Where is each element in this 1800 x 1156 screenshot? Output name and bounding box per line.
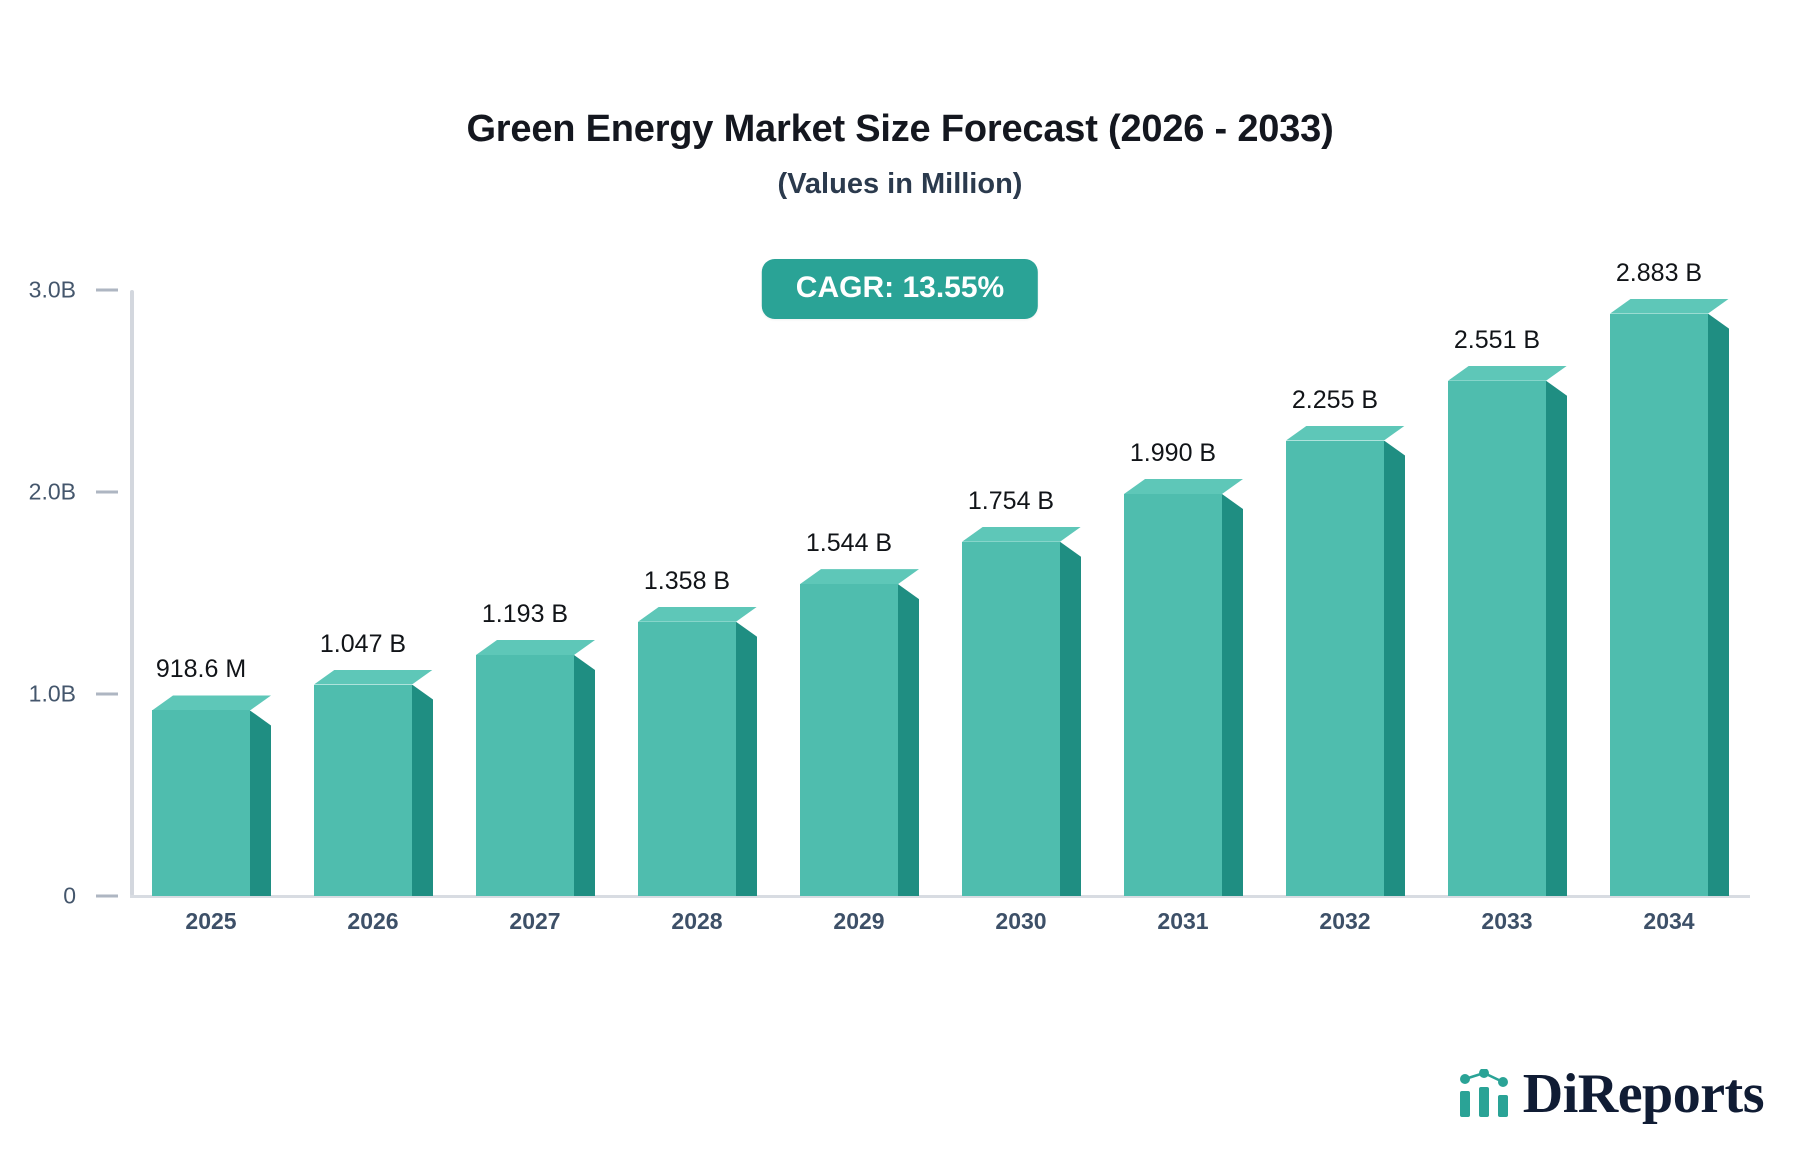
bar-2030[interactable]: 1.754 B xyxy=(962,542,1060,896)
bar-top-face xyxy=(476,640,595,655)
bar-2032[interactable]: 2.255 B xyxy=(1286,441,1384,897)
chart-container: Green Energy Market Size Forecast (2026 … xyxy=(0,0,1800,1156)
x-axis-label-2027: 2027 xyxy=(475,908,595,935)
plot-area: 01.0B2.0B3.0B 918.6 M1.047 B1.193 B1.358… xyxy=(130,285,1750,905)
bar-top-face xyxy=(1286,426,1405,441)
bar-body xyxy=(152,710,250,896)
bar-side-face xyxy=(1708,314,1729,896)
bar-body xyxy=(800,584,898,896)
bar-front-face xyxy=(314,685,412,896)
logo-text: DiReports xyxy=(1523,1066,1764,1122)
bar-front-face xyxy=(1610,314,1708,896)
bar-body xyxy=(638,622,736,896)
page-title: Green Energy Market Size Forecast (2026 … xyxy=(0,108,1800,151)
bar-body xyxy=(1124,494,1222,896)
bar-value-label: 2.551 B xyxy=(1454,326,1540,355)
bar-body xyxy=(1448,381,1546,896)
bar-value-label: 1.544 B xyxy=(806,529,892,558)
bar-value-label: 1.193 B xyxy=(482,600,568,629)
bar-front-face xyxy=(638,622,736,896)
bar-front-face xyxy=(1286,441,1384,897)
chart-subtitle: (Values in Million) xyxy=(0,168,1800,201)
y-axis-tick-label: 0 xyxy=(0,883,76,910)
bar-side-face xyxy=(1060,542,1081,896)
bar-body xyxy=(1286,441,1384,897)
y-axis-tick-label: 1.0B xyxy=(0,681,76,708)
bar-2031[interactable]: 1.990 B xyxy=(1124,494,1222,896)
y-axis-tick-mark xyxy=(96,895,118,898)
y-axis-tick-mark xyxy=(96,491,118,494)
bar-front-face xyxy=(800,584,898,896)
bar-value-label: 1.990 B xyxy=(1130,439,1216,468)
direports-logo: DiReports xyxy=(1457,1066,1764,1122)
x-axis-label-2028: 2028 xyxy=(637,908,757,935)
bar-body xyxy=(1610,314,1708,896)
bar-front-face xyxy=(152,710,250,896)
bar-2033[interactable]: 2.551 B xyxy=(1448,381,1546,896)
bar-2027[interactable]: 1.193 B xyxy=(476,655,574,896)
bar-top-face xyxy=(800,569,919,584)
x-axis-label-2031: 2031 xyxy=(1123,908,1243,935)
bar-side-face xyxy=(1384,441,1405,897)
bar-value-label: 1.754 B xyxy=(968,487,1054,516)
bar-front-face xyxy=(476,655,574,896)
bar-side-face xyxy=(574,655,595,896)
bar-2028[interactable]: 1.358 B xyxy=(638,622,736,896)
bar-top-face xyxy=(1448,366,1567,381)
x-axis-label-2029: 2029 xyxy=(799,908,919,935)
bar-front-face xyxy=(1124,494,1222,896)
x-axis-label-2030: 2030 xyxy=(961,908,1081,935)
bar-body xyxy=(314,685,412,896)
x-axis-label-2032: 2032 xyxy=(1285,908,1405,935)
x-axis-label-2034: 2034 xyxy=(1609,908,1729,935)
bar-series: 918.6 M1.047 B1.193 B1.358 B1.544 B1.754… xyxy=(130,285,1750,896)
y-axis-tick-label: 2.0B xyxy=(0,479,76,506)
bar-side-face xyxy=(898,584,919,896)
bar-2025[interactable]: 918.6 M xyxy=(152,710,250,896)
bar-side-face xyxy=(412,685,433,896)
bar-side-face xyxy=(1222,494,1243,896)
bar-value-label: 1.047 B xyxy=(320,630,406,659)
x-axis-label-2033: 2033 xyxy=(1447,908,1567,935)
bar-value-label: 2.883 B xyxy=(1616,259,1702,288)
bar-2029[interactable]: 1.544 B xyxy=(800,584,898,896)
bar-side-face xyxy=(736,622,757,896)
bar-2026[interactable]: 1.047 B xyxy=(314,685,412,896)
bar-top-face xyxy=(314,670,433,685)
bar-top-face xyxy=(638,607,757,622)
bar-front-face xyxy=(1448,381,1546,896)
bar-value-label: 918.6 M xyxy=(156,655,246,684)
bar-chart-icon xyxy=(1457,1069,1513,1119)
bar-body xyxy=(962,542,1060,896)
bar-front-face xyxy=(962,542,1060,896)
bar-side-face xyxy=(1546,381,1567,896)
y-axis-tick-mark xyxy=(96,693,118,696)
bar-body xyxy=(476,655,574,896)
bar-2034[interactable]: 2.883 B xyxy=(1610,314,1708,896)
y-axis-tick-label: 3.0B xyxy=(0,277,76,304)
x-axis-label-2026: 2026 xyxy=(313,908,433,935)
bar-top-face xyxy=(152,695,271,710)
bar-side-face xyxy=(250,710,271,896)
bar-value-label: 2.255 B xyxy=(1292,386,1378,415)
bar-top-face xyxy=(1124,479,1243,494)
bar-top-face xyxy=(962,527,1081,542)
bar-value-label: 1.358 B xyxy=(644,567,730,596)
bar-top-face xyxy=(1610,299,1729,314)
y-axis-tick-mark xyxy=(96,289,118,292)
x-axis-label-2025: 2025 xyxy=(151,908,271,935)
